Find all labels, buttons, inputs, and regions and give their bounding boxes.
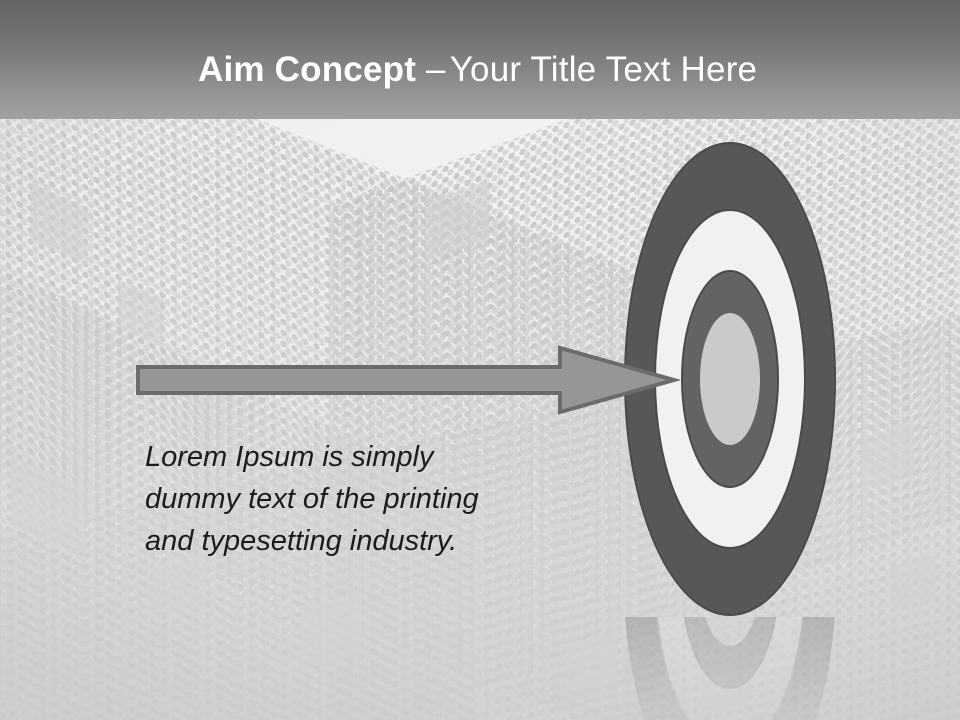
body-text-block: Lorem Ipsum is simply dummy text of the … — [145, 436, 575, 562]
slide-canvas: Aim Concept–Your Title Text Here Lorem I… — [0, 0, 960, 720]
body-text-line-2: dummy text of the printing — [145, 478, 575, 520]
body-text-line-3: and typesetting industry. — [145, 520, 575, 562]
target-bullseye — [700, 313, 760, 445]
pointer-arrow-icon — [132, 340, 680, 420]
title-dash: – — [416, 50, 450, 89]
title-bar: Aim Concept–Your Title Text Here — [0, 0, 960, 119]
title-strong: Aim Concept — [198, 50, 416, 89]
body-text-line-1: Lorem Ipsum is simply — [145, 436, 575, 478]
page-title: Aim Concept–Your Title Text Here — [198, 50, 757, 90]
target-reflection — [624, 617, 836, 720]
title-light: Your Title Text Here — [450, 50, 758, 89]
